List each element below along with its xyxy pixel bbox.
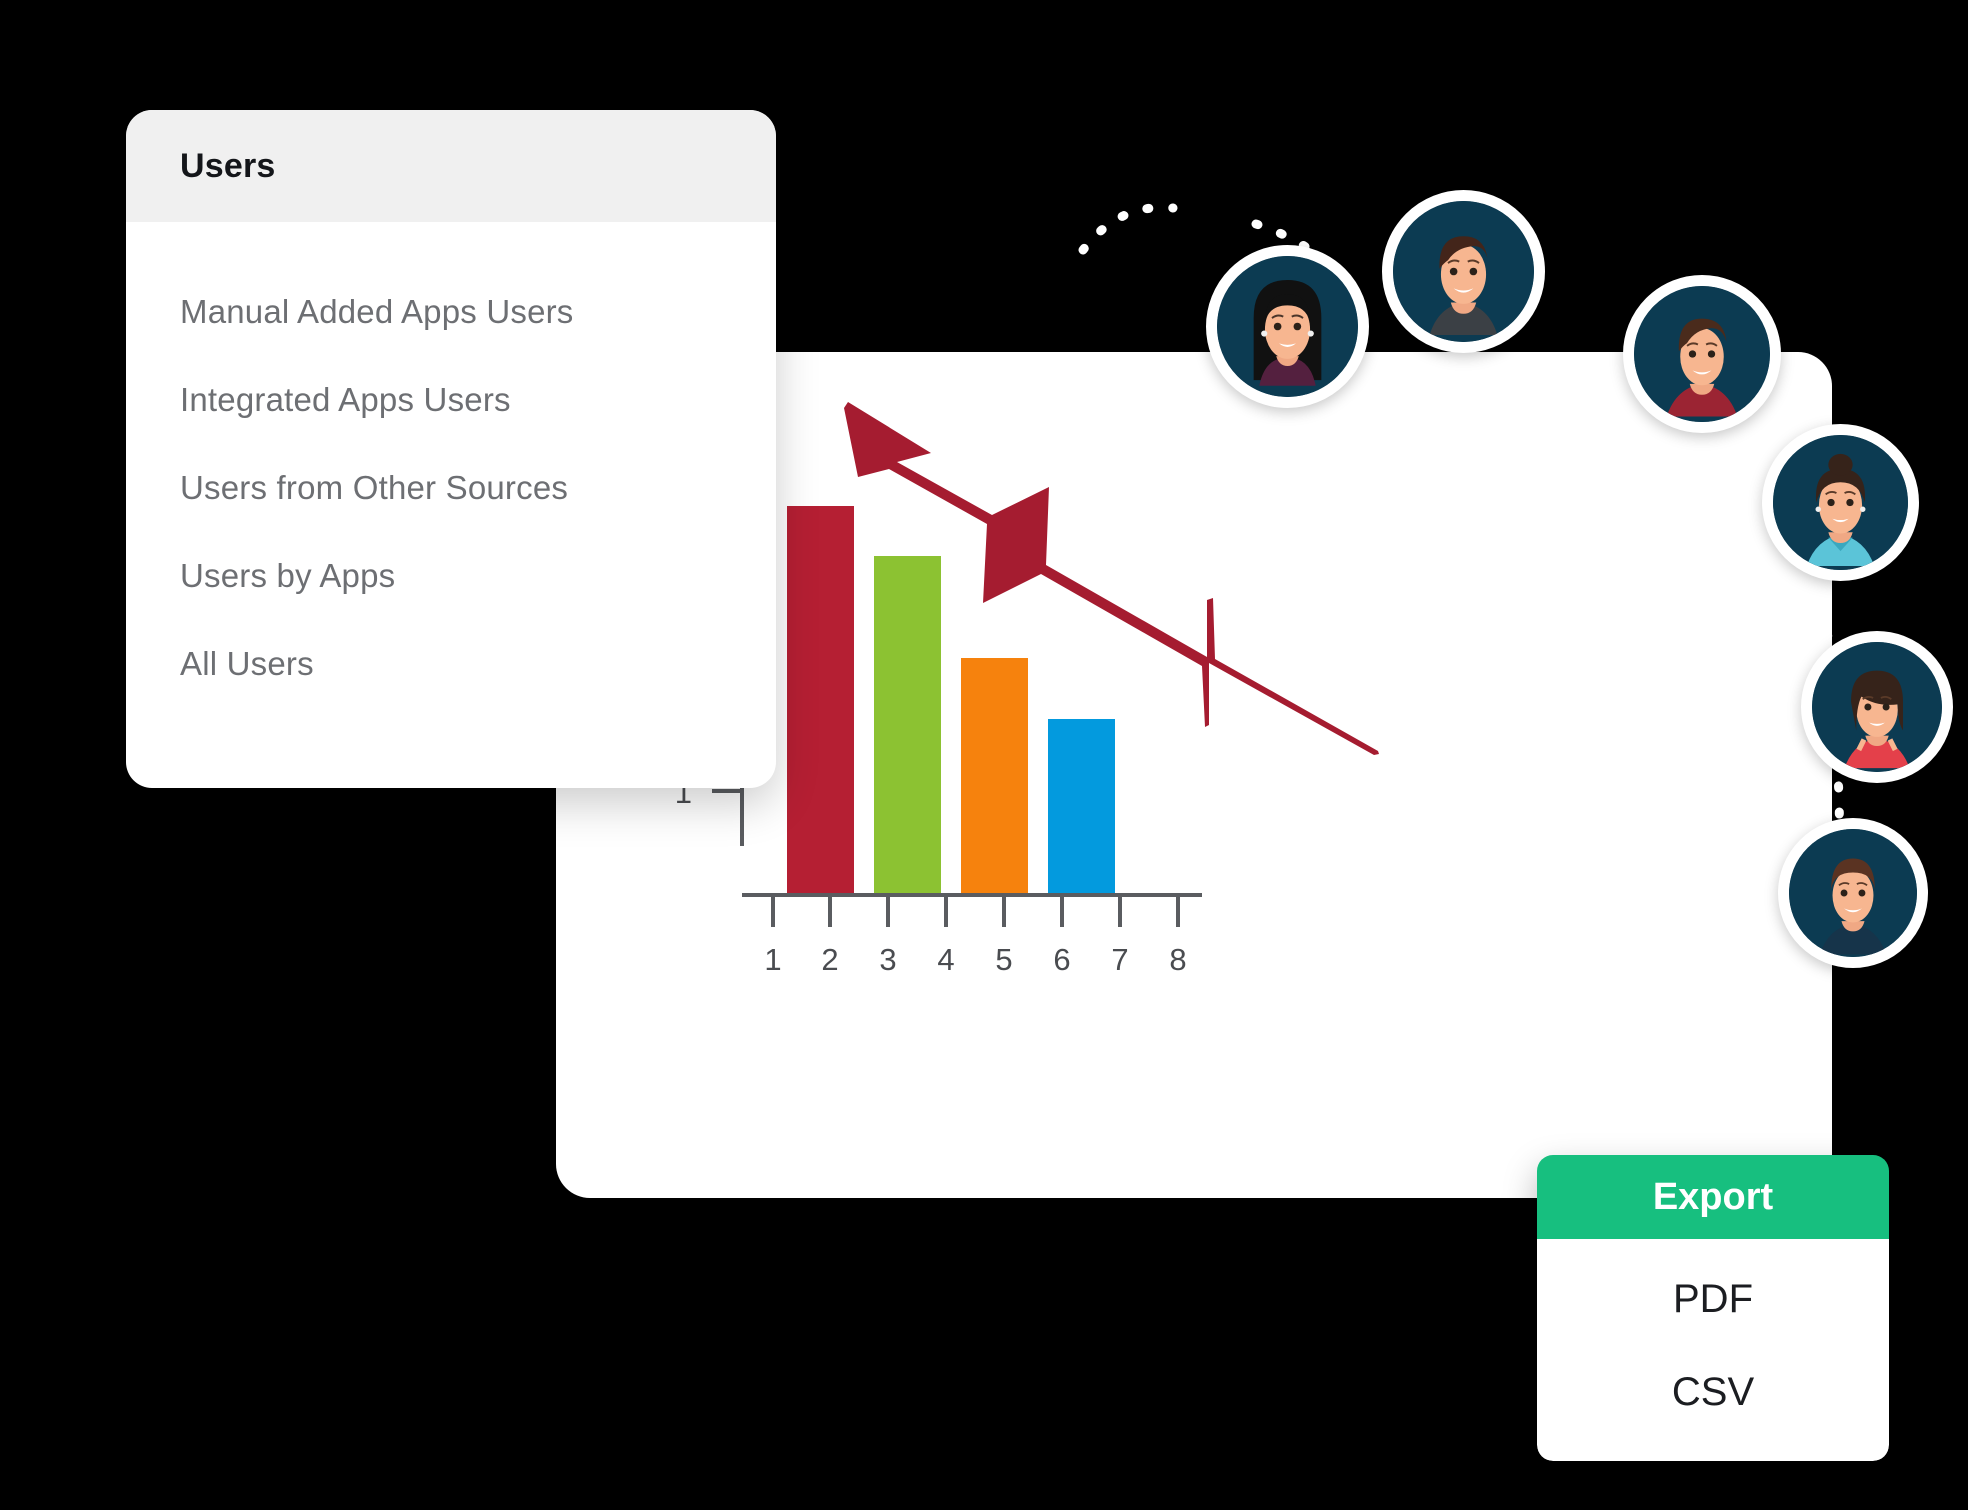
export-option-pdf[interactable]: PDF [1673, 1277, 1753, 1322]
bar-1 [787, 506, 854, 894]
x-axis-ticks [773, 895, 1178, 927]
x-tick-label: 8 [1169, 942, 1186, 977]
menu-item-all-users[interactable]: All Users [126, 620, 776, 708]
export-title: Export [1653, 1176, 1773, 1219]
page-title: Users [180, 147, 276, 186]
bar-3 [961, 658, 1028, 894]
menu-item-users-from-other-sources[interactable]: Users from Other Sources [126, 444, 776, 532]
x-tick-label: 3 [879, 942, 896, 977]
x-tick-label: 1 [764, 942, 781, 977]
x-tick-label: 7 [1111, 942, 1128, 977]
avatar-man-brown-hair[interactable] [1382, 190, 1545, 353]
x-tick-label: 6 [1053, 942, 1070, 977]
screen-root: 8 7 6 5 4 3 2 1 [0, 0, 1968, 1510]
bar-4 [1048, 719, 1115, 894]
x-tick-label: 2 [821, 942, 838, 977]
x-axis-tick-labels: 1 2 3 4 5 6 7 8 [764, 942, 1186, 977]
avatar-woman-dark-hair[interactable] [1206, 245, 1369, 408]
users-panel-header: Users [126, 110, 776, 222]
avatar-woman-bun-teal-top[interactable] [1762, 424, 1919, 581]
export-panel: Export PDF CSV [1537, 1155, 1889, 1461]
avatar-man-red-shirt[interactable] [1623, 275, 1781, 433]
menu-item-manual-added-apps-users[interactable]: Manual Added Apps Users [126, 268, 776, 356]
bar-2 [874, 556, 941, 894]
users-menu-list: Manual Added Apps Users Integrated Apps … [126, 222, 776, 708]
avatar-woman-bob-red-top[interactable] [1801, 631, 1953, 783]
export-options-list: PDF CSV [1537, 1239, 1889, 1461]
dotted-link-1 [1083, 207, 1173, 250]
menu-item-integrated-apps-users[interactable]: Integrated Apps Users [126, 356, 776, 444]
users-dropdown-panel: Users Manual Added Apps Users Integrated… [126, 110, 776, 788]
export-header[interactable]: Export [1537, 1155, 1889, 1239]
avatar-man-short-hair[interactable] [1778, 818, 1928, 968]
menu-item-users-by-apps[interactable]: Users by Apps [126, 532, 776, 620]
x-tick-label: 5 [995, 942, 1012, 977]
x-tick-label: 4 [937, 942, 954, 977]
export-option-csv[interactable]: CSV [1672, 1370, 1754, 1415]
